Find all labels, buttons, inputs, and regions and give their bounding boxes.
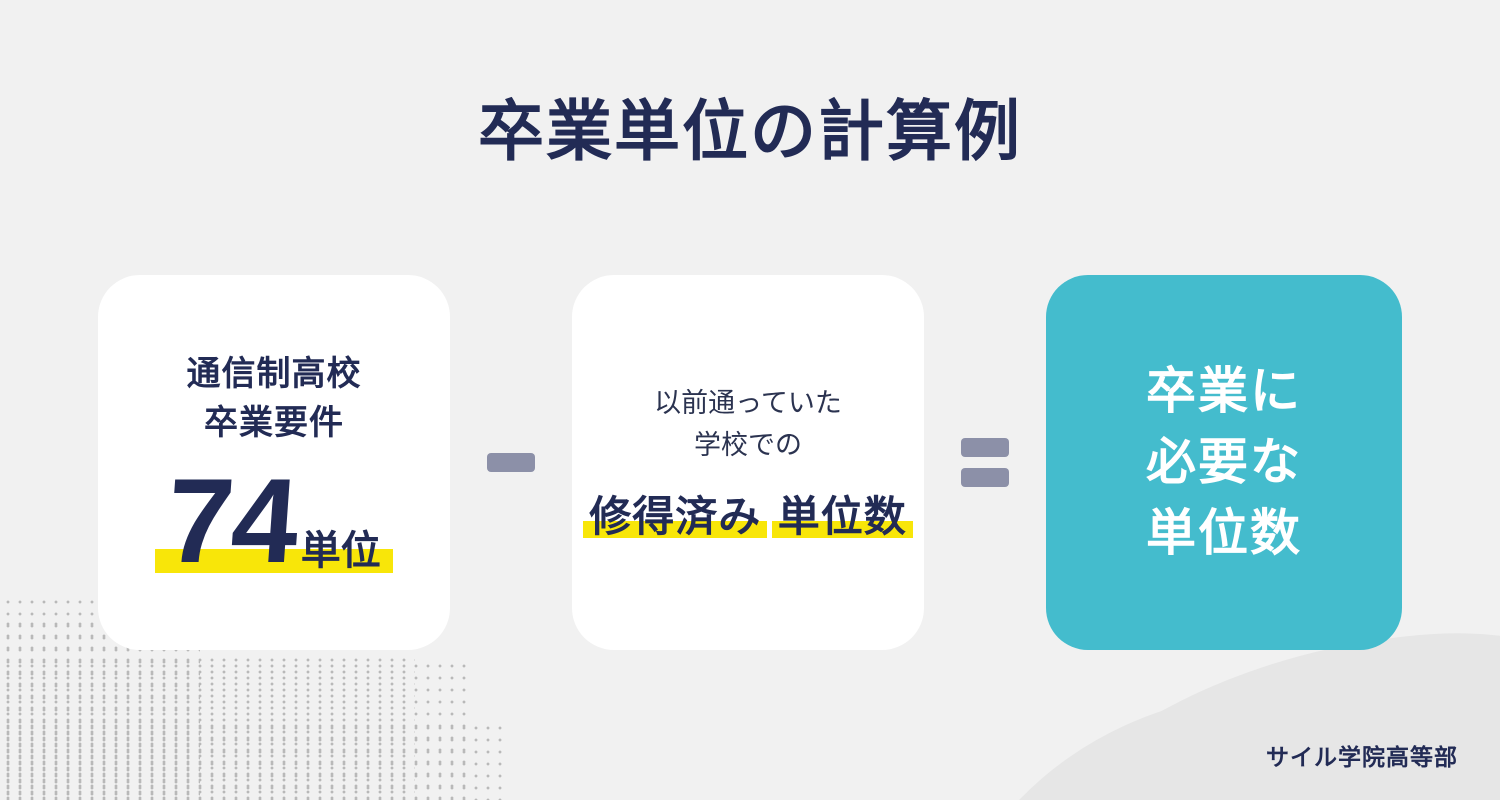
infographic-canvas: 卒業単位の計算例 通信制高校 卒業要件 74 単位 以前通っていた 学校での	[0, 0, 1500, 800]
equals-bar-bottom	[961, 468, 1009, 487]
card1-unit-label: 単位	[301, 531, 381, 575]
equation-row: 通信制高校 卒業要件 74 単位 以前通っていた 学校での 修得済み	[0, 275, 1500, 650]
minus-operator-icon	[450, 275, 572, 650]
card2-body-line1: 修得済み	[583, 491, 767, 542]
card-earned-credits: 以前通っていた 学校での 修得済み 単位数	[572, 275, 924, 650]
card3-line3: 単位数	[1146, 498, 1302, 569]
card-needed-credits: 卒業に 必要な 単位数	[1046, 275, 1402, 650]
equals-bar-top	[961, 438, 1009, 457]
card2-body-line2: 単位数	[772, 491, 913, 542]
card3-line1: 卒業に	[1146, 356, 1302, 427]
background-dot-pattern	[0, 722, 510, 800]
card2-body-line1-text: 修得済み	[589, 493, 761, 540]
brand-footer: サイル学院高等部	[1266, 738, 1458, 772]
card3-line2: 必要な	[1146, 427, 1302, 498]
card1-heading-line1: 通信制高校	[187, 350, 362, 398]
card1-heading: 通信制高校 卒業要件	[187, 350, 362, 447]
card-graduation-requirement: 通信制高校 卒業要件 74 単位	[98, 275, 450, 650]
card1-amount: 74 単位	[163, 469, 384, 575]
card1-number: 74	[164, 469, 301, 575]
card2-heading: 以前通っていた 学校での	[654, 383, 842, 467]
card2-heading-line1: 以前通っていた	[654, 383, 842, 425]
card2-body: 修得済み 単位数	[583, 485, 912, 542]
card2-heading-line2: 学校での	[654, 425, 842, 467]
background-dot-pattern	[0, 660, 470, 800]
page-title: 卒業単位の計算例	[0, 95, 1500, 168]
card1-heading-line2: 卒業要件	[187, 399, 362, 447]
minus-bar	[487, 453, 535, 472]
card2-body-line2-text: 単位数	[778, 493, 907, 540]
equals-operator-icon	[924, 275, 1046, 650]
